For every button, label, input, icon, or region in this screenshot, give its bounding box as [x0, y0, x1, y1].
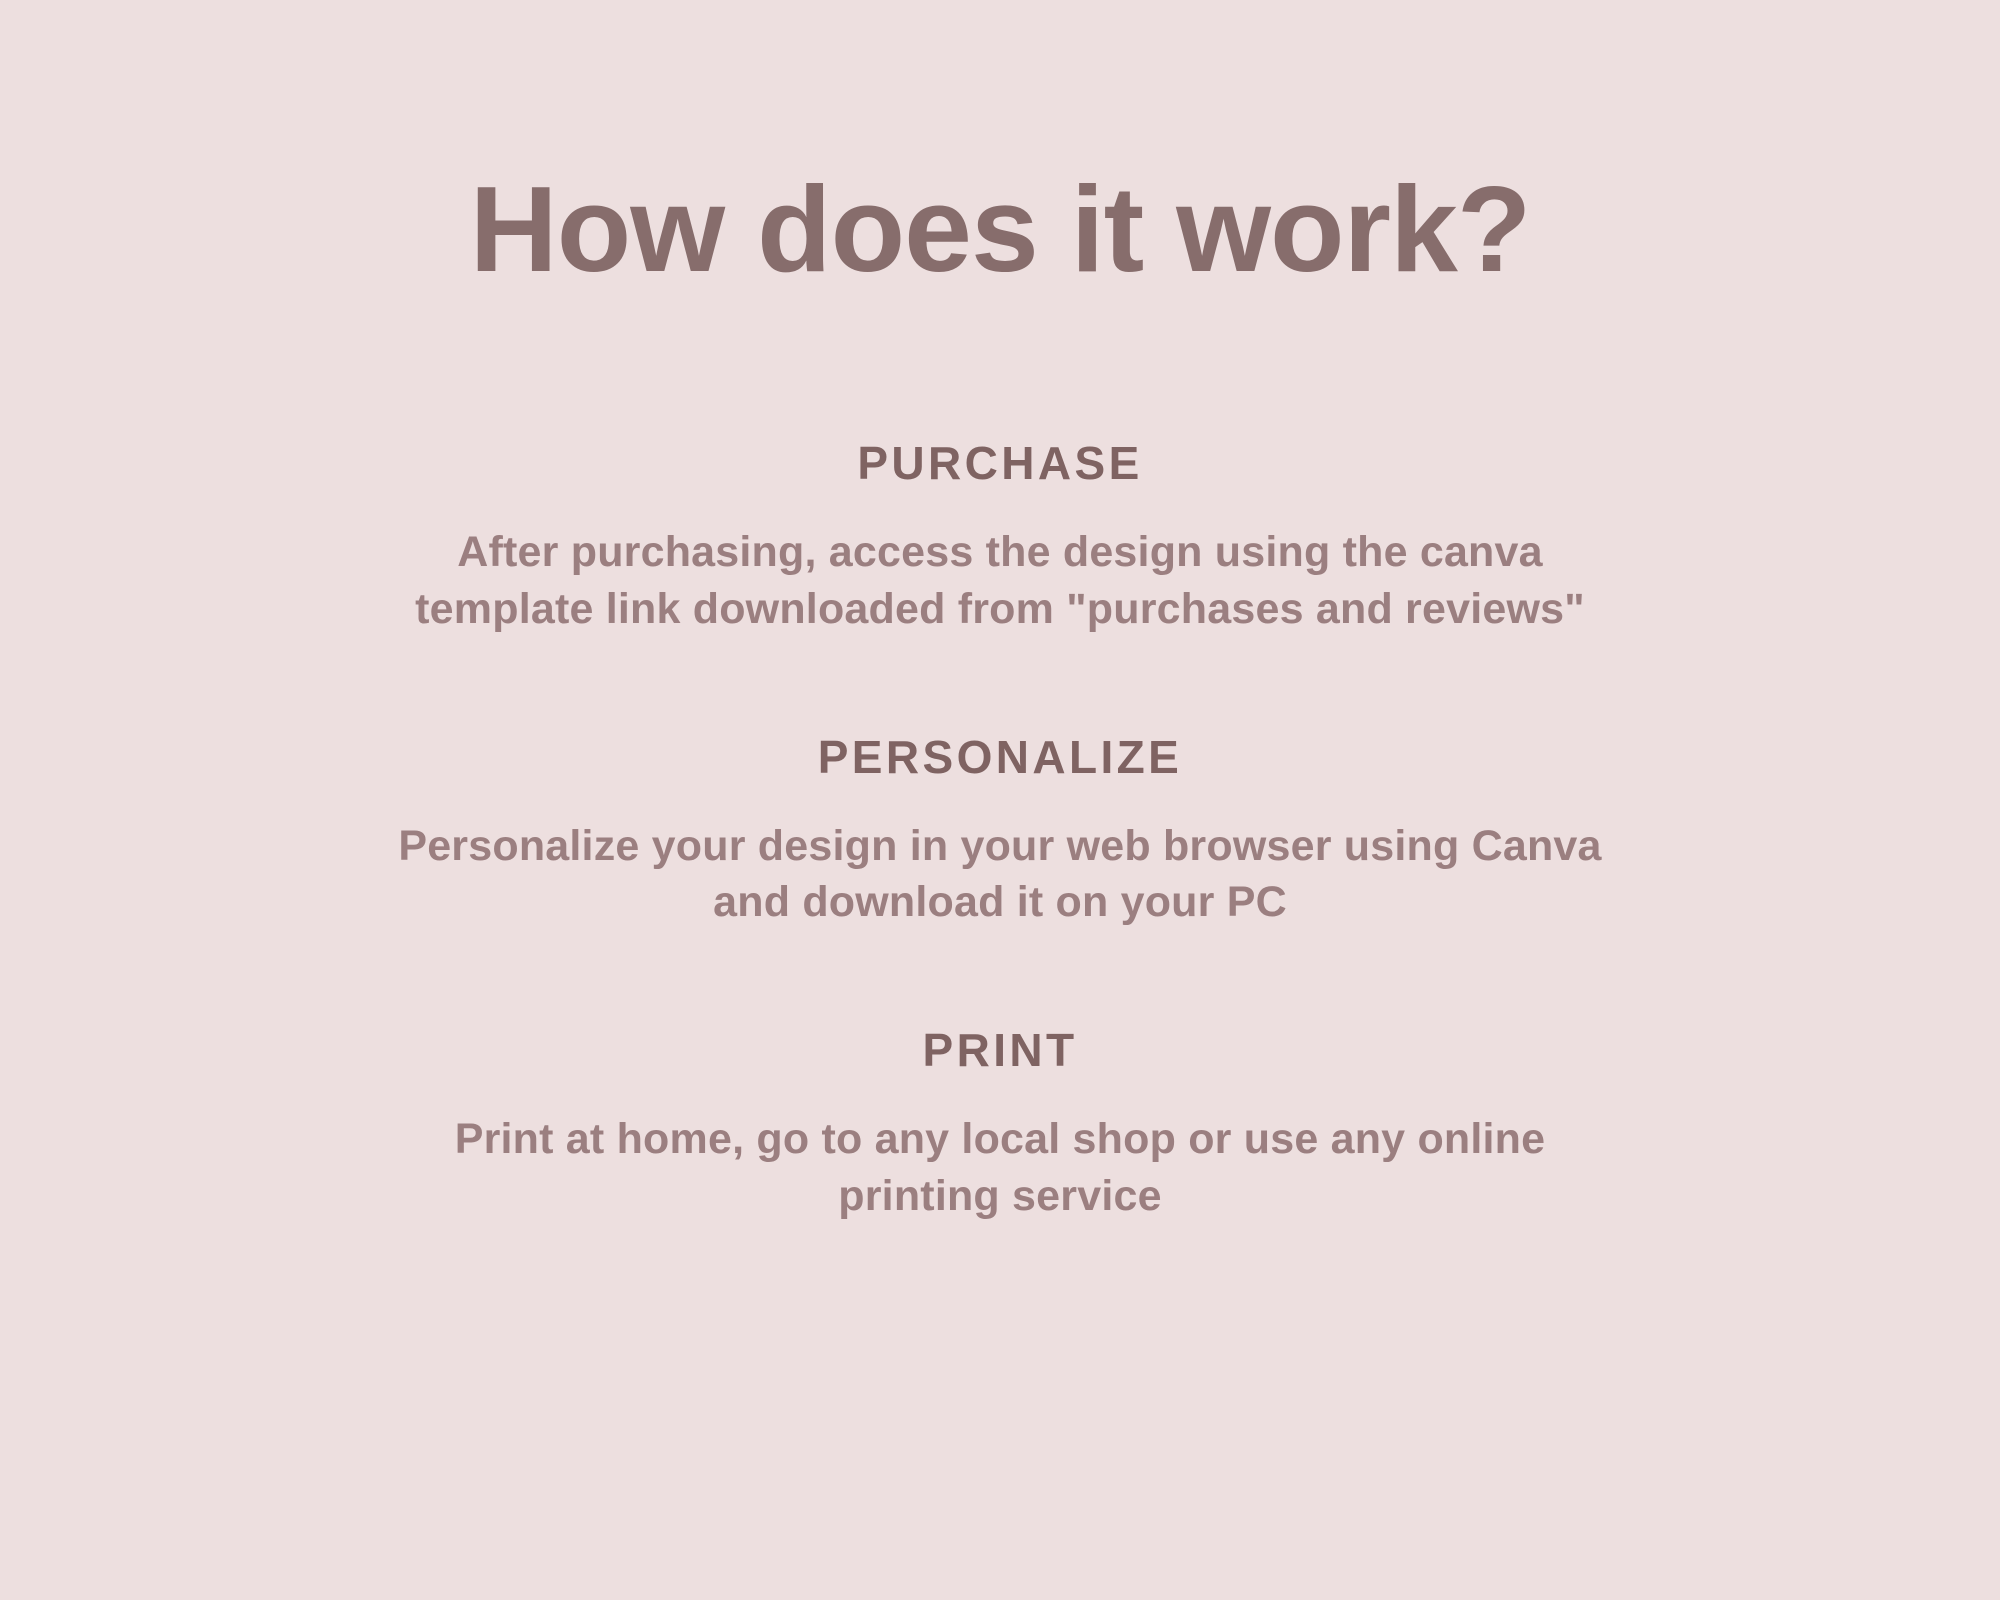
step-heading-purchase: PURCHASE — [857, 440, 1142, 486]
steps-list: PURCHASE After purchasing, access the de… — [0, 440, 2000, 1225]
step-body-line: printing service — [455, 1168, 1546, 1225]
step-purchase: PURCHASE After purchasing, access the de… — [0, 440, 2000, 638]
step-print: PRINT Print at home, go to any local sho… — [0, 1027, 2000, 1225]
poster-canvas: How does it work? PURCHASE After purchas… — [0, 0, 2000, 1600]
step-body-line: Print at home, go to any local shop or u… — [455, 1111, 1546, 1168]
step-body-line: template link downloaded from "purchases… — [415, 581, 1585, 638]
step-heading-personalize: PERSONALIZE — [818, 734, 1183, 780]
page-title: How does it work? — [470, 168, 1531, 290]
step-body-purchase: After purchasing, access the design usin… — [415, 524, 1585, 638]
step-body-print: Print at home, go to any local shop or u… — [455, 1111, 1546, 1225]
step-personalize: PERSONALIZE Personalize your design in y… — [0, 734, 2000, 932]
step-body-line: and download it on your PC — [398, 874, 1601, 931]
step-body-personalize: Personalize your design in your web brow… — [398, 818, 1601, 932]
step-body-line: After purchasing, access the design usin… — [415, 524, 1585, 581]
step-heading-print: PRINT — [923, 1027, 1078, 1073]
step-body-line: Personalize your design in your web brow… — [398, 818, 1601, 875]
